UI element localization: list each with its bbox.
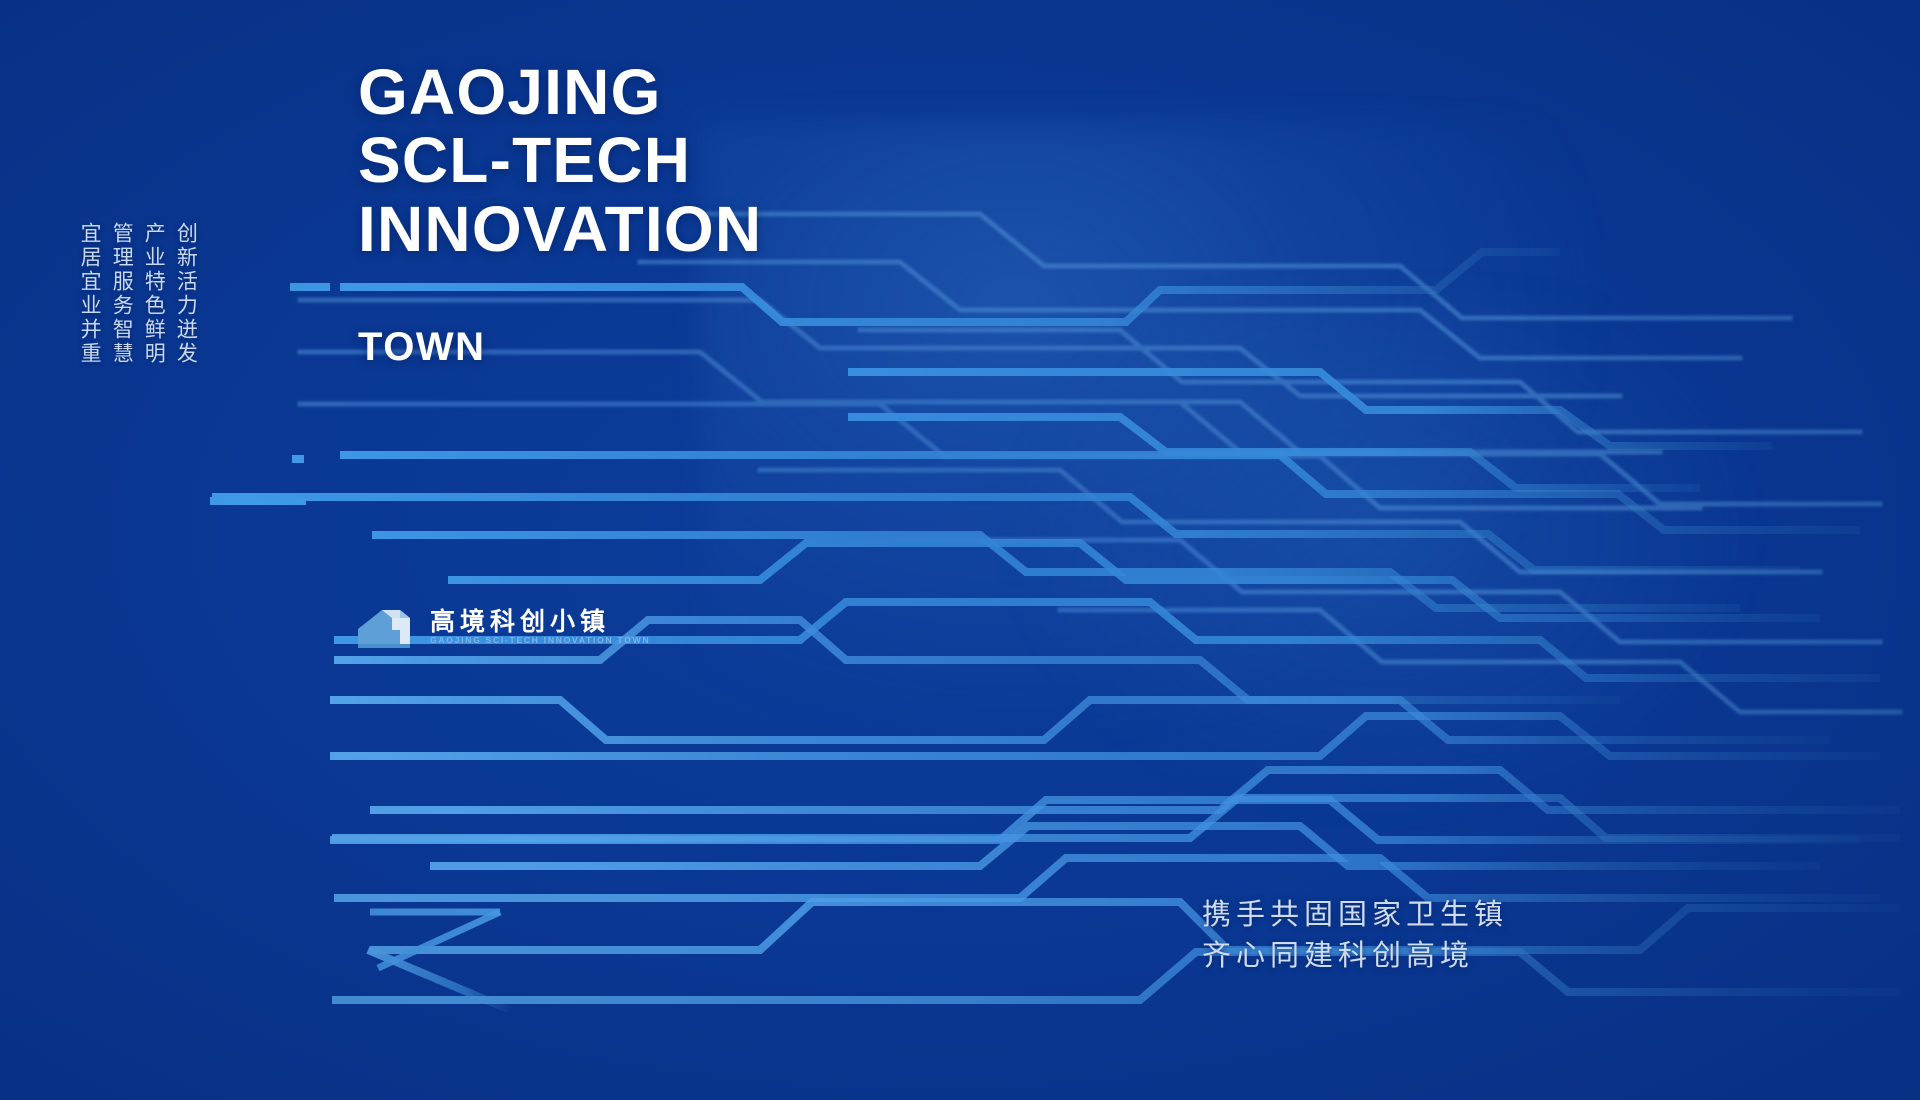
brand-name-cn: 高境科创小镇 [430,609,650,634]
slogan-line-1: 携手共固国家卫生镇 [1202,894,1508,935]
page-title-town: TOWN [358,325,485,370]
vertical-tagline-3: 管理服务智慧 [110,222,133,366]
brand-text-block: 高境科创小镇 GAOJING SCI-TECH INNOVATION TOWN [430,609,650,645]
house-building-icon [356,604,418,650]
vertical-tagline-group: 创新活力迸发 产业特色鲜明 管理服务智慧 宜居宜业并重 [78,222,197,366]
slogan-block: 携手共固国家卫生镇 齐心同建科创高境 [1202,894,1508,976]
vertical-tagline-1: 创新活力迸发 [174,222,197,366]
poster-canvas: 创新活力迸发 产业特色鲜明 管理服务智慧 宜居宜业并重 GAOJING SCL-… [0,0,1920,1100]
background-glow-secondary [1000,300,1760,820]
brand-logo: 高境科创小镇 GAOJING SCI-TECH INNOVATION TOWN [356,604,650,650]
circuit-traces-background [0,0,1920,1100]
poster-vignette [0,0,1920,1100]
slogan-line-2: 齐心同建科创高境 [1202,935,1508,976]
page-title: GAOJING SCL-TECH INNOVATION [358,58,762,263]
vertical-tagline-4: 宜居宜业并重 [78,222,101,366]
circuit-traces-foreground [0,0,1920,1100]
brand-name-en: GAOJING SCI-TECH INNOVATION TOWN [430,636,650,645]
vertical-tagline-2: 产业特色鲜明 [142,222,165,366]
background-glow-primary [700,120,1600,740]
